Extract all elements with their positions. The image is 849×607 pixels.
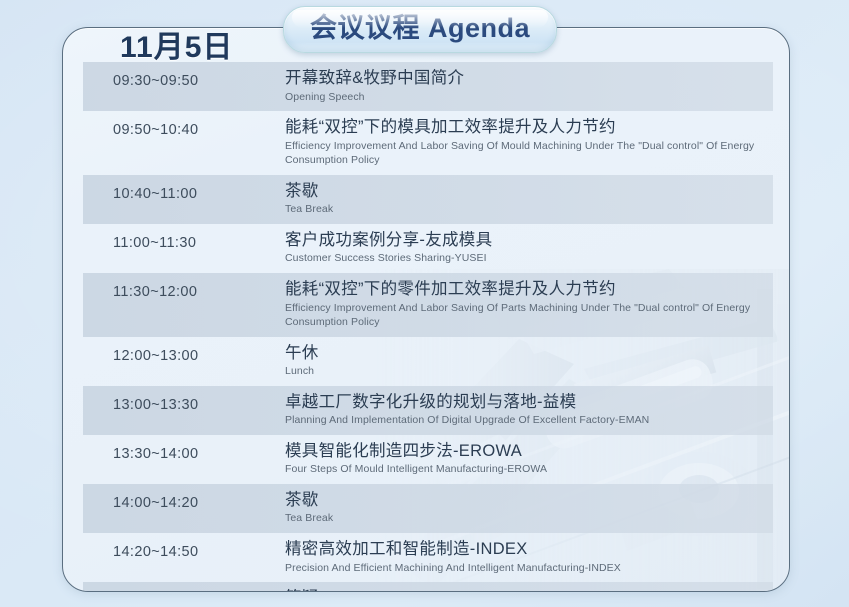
row-session: 茶歇 Tea Break [285,490,773,526]
row-time: 14:20~14:50 [83,539,285,560]
table-row: 11:30~12:00 能耗“双控”下的零件加工效率提升及人力节约 Effici… [83,273,773,337]
row-title-zh: 能耗“双控”下的模具加工效率提升及人力节约 [285,117,763,138]
row-session: 模具智能化制造四步法-EROWA Four Steps Of Mould Int… [285,441,773,477]
row-title-en: Tea Break [285,511,763,525]
row-title-zh: 客户成功案例分享-友成模具 [285,230,763,251]
row-title-en: Opening Speech [285,90,763,104]
row-title-zh: 茶歇 [285,490,763,511]
row-title-en: Efficiency Improvement And Labor Saving … [285,301,763,330]
table-row: 11:00~11:30 客户成功案例分享-友成模具 Customer Succe… [83,224,773,273]
row-time: 10:40~11:00 [83,181,285,202]
table-row: 13:00~13:30 卓越工厂数字化升级的规划与落地-益模 Planning … [83,386,773,435]
row-title-en: Lunch [285,364,763,378]
row-title-en: Customer Success Stories Sharing-YUSEI [285,251,763,265]
row-session: 开幕致辞&牧野中国简介 Opening Speech [285,68,773,104]
table-row: 14:20~14:50 精密高效加工和智能制造-INDEX Precision … [83,533,773,582]
table-row: 14:00~14:20 茶歇 Tea Break [83,484,773,533]
agenda-card: 09:30~09:50 开幕致辞&牧野中国简介 Opening Speech 0… [62,27,790,592]
row-title-en: Precision And Efficient Machining And In… [285,561,763,575]
row-title-zh: 模具智能化制造四步法-EROWA [285,441,763,462]
table-row: 13:30~14:00 模具智能化制造四步法-EROWA Four Steps … [83,435,773,484]
table-row: 09:50~10:40 能耗“双控”下的模具加工效率提升及人力节约 Effici… [83,111,773,175]
row-title-zh: 午休 [285,343,763,364]
row-title-en: Four Steps Of Mould Intelligent Manufact… [285,462,763,476]
row-title-zh: 答疑 [285,588,763,592]
row-time: 12:00~13:00 [83,343,285,364]
row-title-zh: 茶歇 [285,181,763,202]
row-session: 午休 Lunch [285,343,773,379]
table-row: 14:50~15:00 答疑 Q&A [83,582,773,592]
row-session: 能耗“双控”下的零件加工效率提升及人力节约 Efficiency Improve… [285,279,773,330]
table-row: 12:00~13:00 午休 Lunch [83,337,773,386]
row-time: 11:30~12:00 [83,279,285,300]
row-session: 答疑 Q&A [285,588,773,592]
row-title-en: Planning And Implementation Of Digital U… [285,413,763,427]
row-title-zh: 能耗“双控”下的零件加工效率提升及人力节约 [285,279,763,300]
agenda-title-badge: 会议议程 Agenda [283,6,557,53]
page-date-heading: 11月5日 [120,22,233,66]
row-time: 13:30~14:00 [83,441,285,462]
agenda-poster: 09:30~09:50 开幕致辞&牧野中国简介 Opening Speech 0… [0,0,849,607]
row-title-zh: 精密高效加工和智能制造-INDEX [285,539,763,560]
row-time: 09:50~10:40 [83,117,285,138]
row-session: 茶歇 Tea Break [285,181,773,217]
agenda-row-list: 09:30~09:50 开幕致辞&牧野中国简介 Opening Speech 0… [83,62,773,592]
row-time: 09:30~09:50 [83,68,285,89]
row-title-zh: 卓越工厂数字化升级的规划与落地-益模 [285,392,763,413]
table-row: 10:40~11:00 茶歇 Tea Break [83,175,773,224]
row-time: 13:00~13:30 [83,392,285,413]
row-time: 11:00~11:30 [83,230,285,251]
row-title-en: Efficiency Improvement And Labor Saving … [285,139,763,168]
row-time: 14:00~14:20 [83,490,285,511]
row-session: 能耗“双控”下的模具加工效率提升及人力节约 Efficiency Improve… [285,117,773,168]
row-time: 14:50~15:00 [83,588,285,592]
agenda-title-text: 会议议程 Agenda [283,6,557,53]
row-session: 卓越工厂数字化升级的规划与落地-益模 Planning And Implemen… [285,392,773,428]
row-session: 客户成功案例分享-友成模具 Customer Success Stories S… [285,230,773,266]
row-session: 精密高效加工和智能制造-INDEX Precision And Efficien… [285,539,773,575]
row-title-en: Tea Break [285,202,763,216]
row-title-zh: 开幕致辞&牧野中国简介 [285,68,763,89]
table-row: 09:30~09:50 开幕致辞&牧野中国简介 Opening Speech [83,62,773,111]
